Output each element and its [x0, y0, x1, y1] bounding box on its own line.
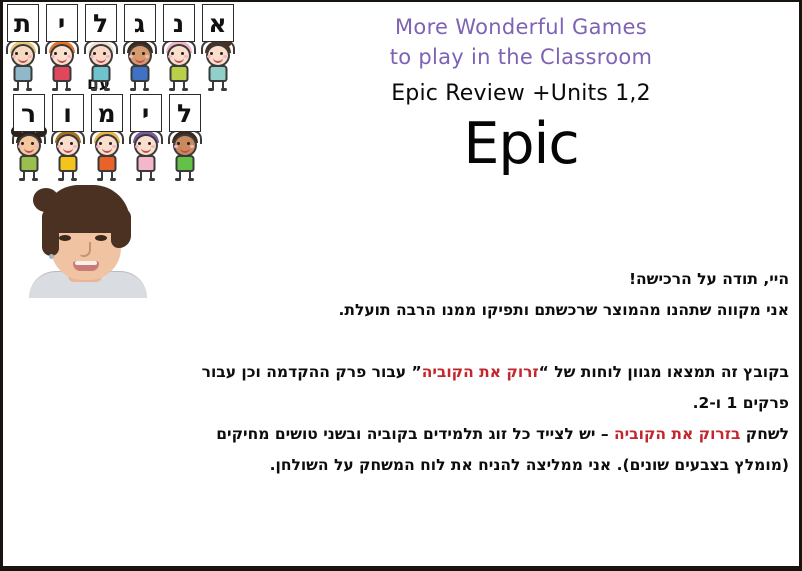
- shirt-shape: [97, 155, 116, 172]
- teeth-shape: [75, 261, 97, 265]
- eye-right: [109, 142, 112, 145]
- foot-right: [71, 178, 77, 181]
- cheek-right: [223, 55, 227, 58]
- subtitle-line-1: More Wonderful Games: [243, 12, 799, 42]
- shirt-shape: [130, 65, 149, 82]
- eye-right: [181, 52, 184, 55]
- foot-left: [91, 88, 97, 91]
- kid-figure: נ: [159, 4, 198, 90]
- kid-figure: א: [198, 4, 237, 90]
- cheek-left: [168, 55, 172, 58]
- foot-left: [130, 88, 136, 91]
- kid-figure: מ: [87, 94, 126, 180]
- letter-sign: ל: [169, 94, 201, 132]
- body-text-block: היי, תודה על הרכישה! אני מקווה שתהנו מהמ…: [169, 264, 789, 481]
- eye-right: [95, 235, 107, 241]
- cheek-right: [106, 55, 110, 58]
- cheek-left: [18, 145, 22, 148]
- instructions-paragraph-1: בקובץ זה תמצאו מגוון לוחות של “זרוק את ה…: [169, 357, 789, 419]
- foot-left: [19, 178, 25, 181]
- letter-sign: ר: [13, 94, 45, 132]
- kid-figure: ג: [120, 4, 159, 90]
- eye-left: [54, 52, 57, 55]
- eye-left: [138, 142, 141, 145]
- units-line: Epic Review +Units 1,2: [243, 77, 799, 111]
- kid-figure: י: [42, 4, 81, 90]
- eye-right: [31, 142, 34, 145]
- cheek-left: [129, 55, 133, 58]
- kids-row-english: ת י: [3, 4, 243, 90]
- cheek-left: [51, 55, 55, 58]
- cheek-left: [207, 55, 211, 58]
- foot-right: [143, 88, 149, 91]
- shirt-shape: [169, 65, 188, 82]
- kid-figure: ר: [9, 94, 48, 180]
- cheek-left: [90, 55, 94, 58]
- kid-figure: ל: [165, 94, 204, 180]
- document-page: ת י: [0, 0, 802, 571]
- paragraph-spacer: [169, 326, 789, 357]
- letter-sign: ת: [7, 4, 39, 42]
- cheek-right: [67, 55, 71, 58]
- foot-left: [58, 178, 64, 181]
- shirt-shape: [136, 155, 155, 172]
- letter-sign: ו: [52, 94, 84, 132]
- eye-left: [21, 142, 24, 145]
- cheek-right: [190, 145, 194, 148]
- eye-right: [187, 142, 190, 145]
- foot-left: [175, 178, 181, 181]
- cheek-right: [73, 145, 77, 148]
- cheek-left: [57, 145, 61, 148]
- subtitle-line-2: to play in the Classroom: [243, 42, 799, 72]
- cheek-left: [96, 145, 100, 148]
- kids-row-name: ר ו: [9, 94, 249, 180]
- eye-left: [210, 52, 213, 55]
- para2-part-a: בקובץ זה תמצאו מגוון לוחות של “: [539, 363, 789, 381]
- eye-right: [220, 52, 223, 55]
- cheek-right: [28, 55, 32, 58]
- shirt-shape: [175, 155, 194, 172]
- cheek-right: [145, 55, 149, 58]
- illustration-block: ת י: [3, 2, 243, 302]
- letter-sign: ל: [85, 4, 117, 42]
- foot-right: [65, 88, 71, 91]
- foot-left: [208, 88, 214, 91]
- letter-sign: ג: [124, 4, 156, 42]
- hair-bun-shape: [33, 188, 59, 212]
- eye-left: [15, 52, 18, 55]
- shirt-shape: [13, 65, 32, 82]
- shirt-shape: [58, 155, 77, 172]
- eye-right: [25, 52, 28, 55]
- foot-right: [149, 178, 155, 181]
- letter-sign: י: [130, 94, 162, 132]
- greeting-line: היי, תודה על הרכישה!: [169, 264, 789, 295]
- eye-left: [93, 52, 96, 55]
- shirt-shape: [19, 155, 38, 172]
- page-title: Epic: [243, 113, 799, 175]
- foot-left: [97, 178, 103, 181]
- heading-block: More Wonderful Games to play in the Clas…: [243, 2, 799, 175]
- cheek-left: [135, 145, 139, 148]
- foot-right: [110, 178, 116, 181]
- kid-figure: י: [126, 94, 165, 180]
- eye-right: [142, 52, 145, 55]
- foot-left: [169, 88, 175, 91]
- cheek-right: [112, 145, 116, 148]
- foot-left: [52, 88, 58, 91]
- shirt-shape: [208, 65, 227, 82]
- eye-left: [132, 52, 135, 55]
- author-portrait: [11, 180, 161, 298]
- foot-left: [136, 178, 142, 181]
- foot-right: [26, 88, 32, 91]
- cheek-right: [184, 55, 188, 58]
- foot-right: [182, 88, 188, 91]
- shirt-shape: [91, 65, 110, 82]
- eye-right: [148, 142, 151, 145]
- foot-right: [221, 88, 227, 91]
- eye-left: [171, 52, 174, 55]
- letter-sign: מ: [91, 94, 123, 132]
- kid-figure: ו: [48, 94, 87, 180]
- letter-sign: נ: [163, 4, 195, 42]
- eye-right: [64, 52, 67, 55]
- letter-sign: א: [202, 4, 234, 42]
- eye-left: [60, 142, 63, 145]
- para3-part-a: לשחק: [740, 425, 789, 443]
- cheek-right: [151, 145, 155, 148]
- letter-sign: י: [46, 4, 78, 42]
- eye-left: [59, 235, 71, 241]
- eye-left: [177, 142, 180, 145]
- foot-right: [104, 88, 110, 91]
- earring-icon: [49, 254, 54, 259]
- eye-left: [99, 142, 102, 145]
- eye-right: [70, 142, 73, 145]
- shirt-shape: [52, 65, 71, 82]
- thanks-line: אני מקווה שתהנו מהמוצר שרכשתם ותפיקו ממנ…: [169, 295, 789, 326]
- kid-figure: ת: [3, 4, 42, 90]
- instructions-paragraph-2: לשחק בזרוק את הקוביה – יש לצייד כל זוג ת…: [169, 419, 789, 481]
- cheek-left: [174, 145, 178, 148]
- game-name-highlight: זרוק את הקוביה: [422, 363, 539, 381]
- foot-right: [32, 178, 38, 181]
- eye-right: [103, 52, 106, 55]
- foot-left: [13, 88, 19, 91]
- cheek-right: [34, 145, 38, 148]
- game-name-highlight: בזרוק את הקוביה: [614, 425, 740, 443]
- foot-right: [188, 178, 194, 181]
- cheek-left: [12, 55, 16, 58]
